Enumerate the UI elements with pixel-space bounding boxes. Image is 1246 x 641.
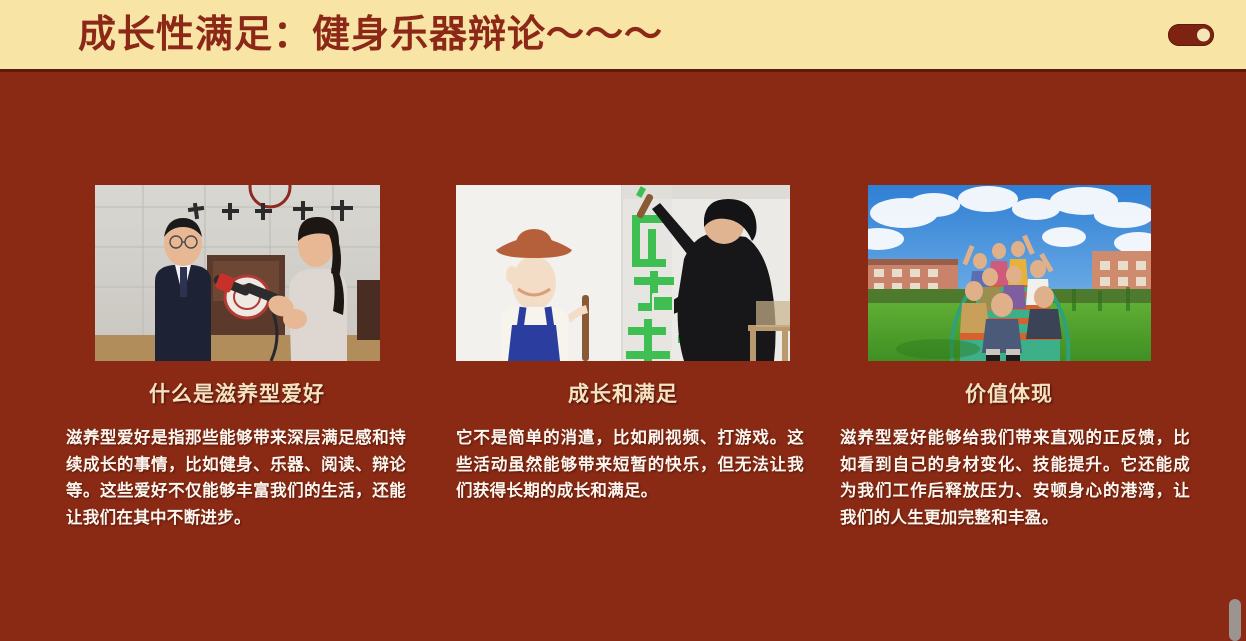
- content-card[interactable]: 成长和满足 它不是简单的消遣，比如刷视频、打游戏。这些活动虽然能够带来短暂的快乐…: [454, 185, 792, 505]
- card-title: 什么是滋养型爱好: [68, 378, 406, 408]
- display-toggle[interactable]: [1168, 24, 1214, 46]
- mural-painting-photo: [456, 185, 790, 361]
- card-body: 滋养型爱好能够给我们带来直观的正反馈，比如看到自己的身材变化、技能提升。它还能成…: [840, 425, 1190, 532]
- campus-interview-photo: [95, 185, 380, 361]
- card-title: 成长和满足: [454, 378, 792, 408]
- card-body: 滋养型爱好是指那些能够带来深层满足感和持续成长的事情，比如健身、乐器、阅读、辩论…: [66, 425, 406, 532]
- vertical-scrollbar-thumb[interactable]: [1229, 599, 1241, 641]
- content-card[interactable]: 价值体现 滋养型爱好能够给我们带来直观的正反馈，比如看到自己的身材变化、技能提升…: [840, 185, 1178, 532]
- slide-content-area: 什么是滋养型爱好 滋养型爱好是指那些能够带来深层满足感和持续成长的事情，比如健身…: [0, 75, 1246, 641]
- card-title: 价值体现: [840, 378, 1178, 408]
- group-photo-playground: [868, 185, 1151, 361]
- vertical-scrollbar-track[interactable]: [1226, 75, 1242, 641]
- card-row: 什么是滋养型爱好 滋养型爱好是指那些能够带来深层满足感和持续成长的事情，比如健身…: [0, 185, 1246, 532]
- toggle-knob-icon: [1197, 28, 1210, 41]
- page-title: 成长性满足：健身乐器辩论～～～: [78, 16, 663, 54]
- page-header: 成长性满足：健身乐器辩论～～～: [0, 0, 1246, 72]
- mural-painting-illustration: [456, 185, 790, 361]
- content-card[interactable]: 什么是滋养型爱好 滋养型爱好是指那些能够带来深层满足感和持续成长的事情，比如健身…: [68, 185, 406, 532]
- card-body: 它不是简单的消遣，比如刷视频、打游戏。这些活动虽然能够带来短暂的快乐，但无法让我…: [456, 425, 804, 505]
- campus-interview-illustration: [95, 185, 380, 361]
- group-photo-illustration: [868, 185, 1151, 361]
